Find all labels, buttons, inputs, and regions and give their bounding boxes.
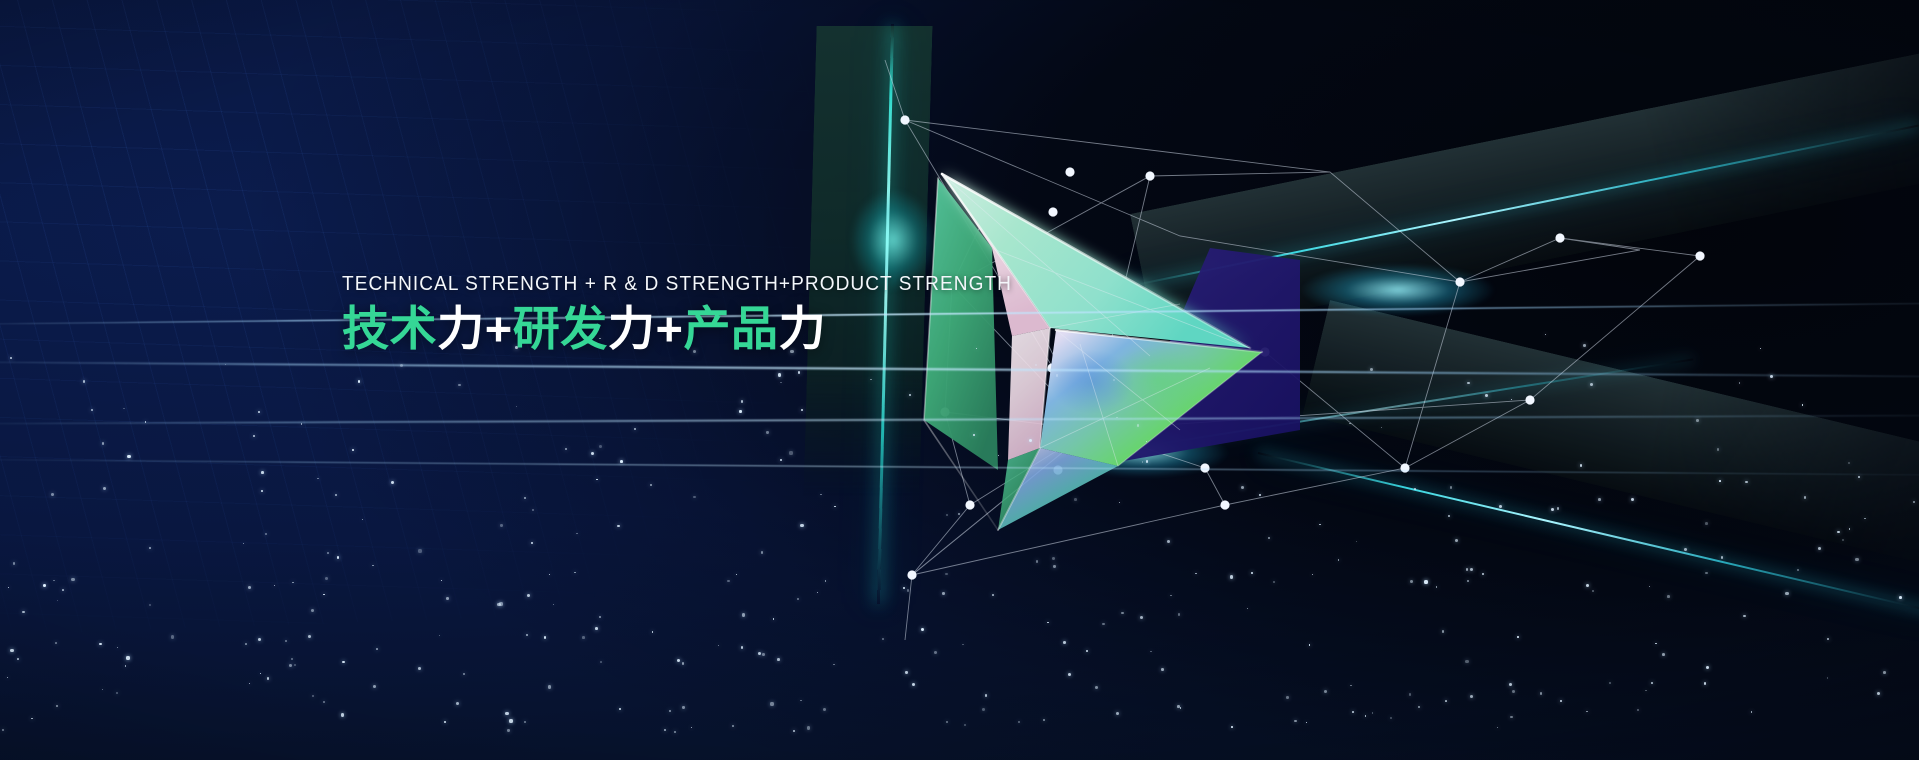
particle [817,592,818,593]
particle [544,636,546,638]
particle [634,428,636,430]
particle [777,658,780,661]
particle [261,490,264,493]
headline-chinese-segment: 力 [437,302,485,355]
particle [1029,439,1032,442]
particle [444,721,447,724]
particle [1286,696,1289,699]
particle [582,636,585,639]
particle [323,701,325,703]
particle [1063,641,1066,644]
particle [1631,498,1634,501]
particle [352,449,353,450]
particle [985,694,988,697]
particle [372,565,373,566]
particle [652,631,654,633]
particle [1043,719,1045,721]
particle [1510,716,1513,719]
particle [1177,705,1180,708]
particle [2,729,4,731]
particle [1864,518,1866,520]
particle [103,487,106,490]
particle [553,604,554,605]
particle [1306,722,1307,723]
particle [1721,556,1723,558]
particle [992,594,994,596]
particle [446,597,449,600]
particle [1467,580,1469,582]
particle [1230,575,1233,578]
particle [1170,595,1171,596]
particle [524,497,526,499]
particle [1551,508,1554,511]
particle [1121,612,1124,615]
particle [376,648,378,650]
particle [1372,712,1373,713]
particle [964,724,966,726]
particle [1409,693,1412,696]
headline-chinese-segment: + [485,302,513,355]
particle [149,604,152,607]
particle [507,729,509,731]
particle [780,459,782,461]
particle [22,611,25,614]
particle [650,484,652,486]
particle [1883,671,1886,674]
network-node [1555,233,1564,242]
particle [91,409,93,411]
particle [7,677,8,678]
particle [946,721,948,723]
particle [798,371,801,374]
particle [1899,596,1902,599]
particle [258,411,260,413]
particle [335,494,337,496]
particle [912,683,915,686]
particle [373,685,376,688]
particle [99,643,101,645]
particle [674,731,676,733]
particle [591,452,594,455]
particle [456,702,459,705]
particle [1497,727,1498,728]
particle [1259,494,1261,496]
particle [1651,682,1653,684]
particle [123,408,125,410]
hero-banner: TECHNICAL STRENGTH + R & D STRENGTH+PROD… [0,0,1919,760]
particle [526,634,528,636]
particle [1381,427,1383,429]
particle [800,524,803,527]
particle [31,718,33,720]
particle [1352,711,1354,713]
particle [682,662,685,665]
terrain-ridge-line [0,414,1919,425]
particle [1705,522,1708,525]
particle [780,382,781,383]
particle [549,574,550,575]
particle [1086,650,1089,653]
particle [1414,488,1416,490]
particle [574,572,576,574]
particle [317,478,318,479]
particle [1586,711,1587,712]
particle [1592,590,1593,591]
particle [677,659,680,662]
particle [762,653,765,656]
particle [1804,496,1806,498]
particle [797,598,799,600]
particle [1655,643,1656,644]
particle [600,661,602,663]
particle [778,373,781,376]
wireframe-terrain [0,290,1919,760]
particle [1470,695,1473,698]
particle [942,592,945,595]
particle [1324,690,1327,693]
particle [499,602,502,605]
particle [1743,615,1746,618]
particle [1247,608,1248,609]
particle [125,665,127,667]
headline-chinese-segment: 产品 [683,302,778,355]
particle [1827,677,1828,678]
particle [1470,568,1473,571]
particle [267,677,269,679]
particle [620,460,623,463]
particle [946,514,948,516]
particle [531,542,532,543]
particle [962,644,963,645]
particle [825,580,827,582]
particle [1436,586,1437,587]
particle [308,635,311,638]
headline-english: TECHNICAL STRENGTH + R & D STRENGTH+PROD… [342,272,1012,296]
particle [57,600,58,601]
particle [1511,399,1513,401]
particle [248,586,251,589]
particle [1338,559,1339,560]
particle [56,705,58,707]
particle [1785,592,1788,595]
particle [1705,572,1707,574]
particle [1018,721,1020,723]
particle [1583,344,1586,347]
particle [727,580,730,583]
particle [1312,574,1314,576]
particle [62,589,64,591]
particle [358,380,361,383]
particle [243,543,244,544]
headline-chinese-segment: 技术 [342,302,437,355]
particle [882,638,884,640]
particle [1684,548,1687,551]
particle [1560,700,1562,702]
particle [1119,502,1120,503]
particle [1609,682,1611,684]
particle [1512,690,1515,693]
particle [1102,623,1104,625]
headline-chinese-segment: + [655,302,683,355]
particle [1751,711,1753,713]
network-node [1455,277,1464,286]
particle [958,513,960,515]
particle [1745,481,1747,483]
particle [1913,501,1915,503]
particle [1036,560,1039,563]
particle [505,712,508,715]
particle [789,451,792,454]
particle [1586,584,1589,587]
particle [1150,651,1151,652]
particle [274,585,276,587]
particle [1450,486,1453,489]
particle [116,692,118,694]
particle [524,721,526,723]
particle [1074,498,1077,501]
network-node [1695,251,1704,260]
particle [337,556,339,558]
particle [325,577,328,580]
terrain-ridge-line [0,361,1919,379]
particle [907,589,909,591]
particle [1849,528,1851,530]
particle [909,394,911,396]
particle [1068,673,1071,676]
particle [576,533,578,535]
particle [362,519,363,520]
particle [391,481,394,484]
particle [619,708,621,710]
particle [311,609,314,612]
particle [509,719,512,722]
particle [1178,613,1180,615]
particle [596,479,597,480]
particle [418,667,421,670]
particle [1231,726,1233,728]
particle [1598,498,1601,501]
particle [1294,720,1297,723]
particle [1146,460,1149,463]
particle [1540,692,1543,695]
headline-block: TECHNICAL STRENGTH + R & D STRENGTH+PROD… [342,272,1062,356]
particle [834,506,836,508]
particle [766,431,768,433]
particle [1273,581,1276,584]
particle [285,640,287,642]
particle [1268,537,1270,539]
particle [739,410,741,412]
particle [599,616,601,618]
particle [1251,572,1253,574]
particle [253,435,255,437]
particle [323,594,325,596]
particle [761,551,764,554]
particle [10,649,13,652]
particle [820,494,821,495]
particle [289,664,292,667]
particle [682,706,684,708]
headline-chinese-segment: 力 [608,302,656,355]
particle [693,496,696,499]
particle [741,400,744,403]
particle [418,549,421,552]
particle [1848,462,1850,464]
particle [741,646,744,649]
particle [17,658,19,660]
particle [599,445,602,448]
particle [691,727,692,728]
particle [291,658,293,660]
particle [595,627,598,630]
particle [1390,717,1392,719]
particle [1241,486,1244,489]
particle [327,552,329,554]
particle [973,434,975,436]
particle [292,582,294,584]
particle [1146,441,1147,442]
particle [934,651,937,654]
network-node [900,115,909,124]
particle [1509,683,1512,686]
particle [1142,461,1144,463]
particle [260,673,261,674]
particle [117,647,119,649]
particle [1858,476,1860,478]
particle [1855,558,1858,561]
particle [1466,568,1468,570]
particle [1349,423,1350,424]
particle [905,671,907,673]
particle [516,406,517,407]
particle [945,573,947,575]
particle [171,635,174,638]
particle [801,409,803,411]
particle [1319,524,1320,525]
particle [83,380,85,382]
particle [1696,419,1699,422]
particle [1837,531,1840,534]
particle [793,730,795,732]
particle [1180,707,1181,708]
particle [1448,515,1450,517]
particle [1649,586,1651,588]
particle [1739,382,1741,384]
particle [1350,685,1351,686]
particle [1818,547,1821,550]
particle [245,643,247,645]
particle [1827,638,1830,641]
particle [1056,374,1058,376]
particle [770,702,773,705]
particle [441,580,442,581]
particle [265,533,267,535]
particle [458,384,461,387]
particle [1167,540,1170,543]
particle [294,664,296,666]
particle [71,578,74,581]
particle [1356,541,1357,542]
particle [312,695,315,698]
particle [718,645,720,647]
particle [870,379,871,380]
particle [998,455,999,456]
particle [1424,580,1427,583]
particle [261,471,264,474]
particle [1195,573,1196,574]
particle [1706,666,1709,669]
particle [1704,682,1706,684]
particle [1455,539,1458,542]
particle [1410,580,1413,583]
particle [669,710,671,712]
particle [497,603,500,606]
particle [1140,616,1143,619]
particle [342,661,345,664]
particle [258,638,261,641]
particle [617,525,620,528]
particle [532,509,534,511]
particle [10,357,12,359]
particle [1719,480,1721,482]
particle [823,708,826,711]
particle [1877,692,1880,695]
particle [341,713,344,716]
particle [565,448,568,451]
particle [1445,700,1447,702]
particle [1760,348,1761,349]
particle [1465,660,1468,663]
particle [1499,505,1502,508]
particle [1035,364,1037,366]
headline-chinese: 技术力+研发力+产品力 [342,303,1062,356]
particle [1053,565,1055,567]
particle [1637,709,1639,711]
particle [1418,706,1419,707]
particle [53,580,54,581]
particle [1662,653,1665,656]
particle [102,689,103,690]
particle [1137,424,1139,426]
particle [548,685,551,688]
particle [13,562,15,564]
particle [773,618,774,619]
particle [1517,636,1519,638]
particle [1797,569,1799,571]
particle [1113,379,1115,381]
particle [8,587,9,588]
particle [126,656,129,659]
particle [1557,507,1560,510]
particle [527,594,530,597]
terrain-particles [0,290,1919,760]
particle [800,700,802,702]
particle [1545,334,1547,336]
particle [1802,404,1803,405]
particle [736,574,737,575]
particle [1442,630,1445,633]
particle [55,642,57,644]
particle [664,729,666,731]
particle [301,423,303,425]
particle [1590,383,1593,386]
particle [807,726,810,729]
particle [1365,715,1367,717]
particle [439,635,440,636]
particle [1482,573,1484,575]
particle [463,673,465,675]
particle [1467,382,1470,385]
